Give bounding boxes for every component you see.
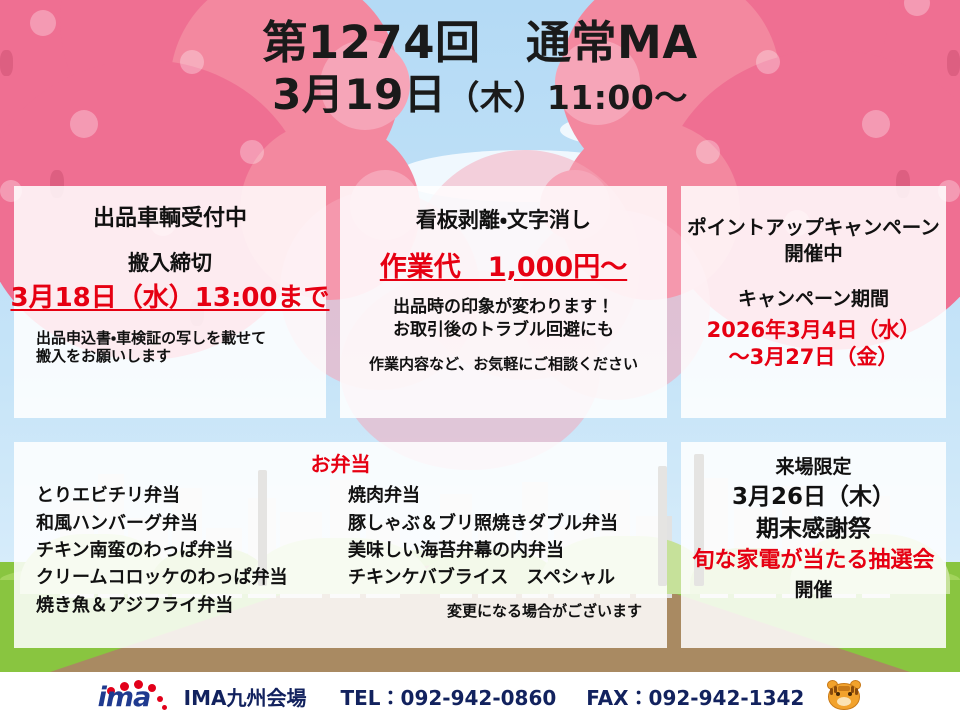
footer-bar: ima IMA九州会場 TEL：092-942-0860 FAX：092-942… [0,672,960,720]
title-line-1: 第1274回 通常MA [0,16,960,69]
bento-item: 和風ハンバーグ弁当 [36,510,348,537]
panel-point-campaign: ポイントアップキャンペーン 開催中 キャンペーン期間 2026年3月4日（水） … [681,186,946,418]
title-line-2: 3月19日（木）11:00〜 [0,69,960,121]
entry-subheading: 搬入締切 [128,251,212,277]
footer-telephone: TEL：092-942-0860 [340,682,556,711]
campaign-title-line-2: 開催中 [784,242,843,266]
signage-heading: 看板剥離・文字消し [416,208,591,234]
bento-item: とりエビチリ弁当 [36,482,348,509]
bento-column-right: 焼肉弁当 豚しゃぶ＆ブリ照焼きダブル弁当 美味しい海苔弁幕の内弁当 チキンケバブ… [348,482,648,620]
entry-note: 出品申込書・車検証の写しを載せて 搬入をお願いします [36,329,304,366]
footer-venue-name: IMA九州会場 [184,682,307,711]
bento-column-left: とりエビチリ弁当 和風ハンバーグ弁当 チキン南蛮のわっぱ弁当 クリームコロッケの… [36,482,348,620]
bento-item: クリームコロッケのわっぱ弁当 [36,564,348,591]
panel-bento-menu: お弁当 とりエビチリ弁当 和風ハンバーグ弁当 チキン南蛮のわっぱ弁当 クリームコ… [14,442,667,648]
signage-price: 作業代 1,000円〜 [380,252,627,285]
event-date: 3月19日 [272,70,446,119]
panel-year-end-festival: 来場限定 3月26日（木） 期末感謝祭 旬な家電が当たる抽選会 開催 [681,442,946,648]
entry-note-line-1: 出品申込書・車検証の写しを載せて [36,329,304,347]
entry-deadline: 3月18日（水）13:00まで [10,283,329,315]
poster-canvas: 第1274回 通常MA 3月19日（木）11:00〜 出品車輌受付中 搬入締切 … [0,0,960,720]
footer-fax: FAX：092-942-1342 [586,682,804,711]
signage-contact-note: 作業内容など、お気軽にご相談ください [369,355,638,373]
signage-benefit-line-2: お取引後のトラブル回避にも [393,320,614,341]
festival-name: 期末感謝祭 [756,515,871,543]
bento-item: 焼肉弁当 [348,482,648,509]
bento-item: 豚しゃぶ＆ブリ照焼きダブル弁当 [348,510,648,537]
event-time: （木）11:00〜 [446,78,688,117]
festival-line-5: 開催 [794,579,832,602]
bento-title: お弁当 [311,452,371,476]
signage-benefit-line-1: 出品時の印象が変わります！ [393,297,614,318]
panel-vehicle-entry: 出品車輌受付中 搬入締切 3月18日（水）13:00まで 出品申込書・車検証の写… [14,186,326,418]
bento-item: 焼き魚＆アジフライ弁当 [36,592,348,619]
campaign-title-line-1: ポイントアップキャンペーン [687,216,940,240]
tiger-mascot-icon [826,679,862,713]
logo-dot-icon [162,705,167,710]
bento-change-note: 変更になる場合がございます [348,600,648,621]
festival-date: 3月26日（木） [732,483,895,511]
entry-note-line-2: 搬入をお願いします [36,347,304,365]
panel-signage-removal: 看板剥離・文字消し 作業代 1,000円〜 出品時の印象が変わります！ お取引後… [340,186,667,418]
bento-item: チキンケバブライス スペシャル [348,564,648,591]
campaign-period-start: 2026年3月4日（水） [707,318,921,344]
campaign-period-end: 〜3月27日（金） [729,345,899,371]
entry-heading: 出品車輌受付中 [93,206,247,233]
logo-dot-icon [157,696,163,702]
ima-logo: ima [98,679,172,713]
bento-item: チキン南蛮のわっぱ弁当 [36,537,348,564]
logo-wordmark: ima [98,682,151,713]
campaign-period-label: キャンペーン期間 [738,288,889,311]
festival-line-1: 来場限定 [775,456,851,479]
bento-item: 美味しい海苔弁幕の内弁当 [348,537,648,564]
poster-title: 第1274回 通常MA 3月19日（木）11:00〜 [0,16,960,121]
bento-columns: とりエビチリ弁当 和風ハンバーグ弁当 チキン南蛮のわっぱ弁当 クリームコロッケの… [14,482,667,620]
festival-lottery: 旬な家電が当たる抽選会 [692,548,934,575]
